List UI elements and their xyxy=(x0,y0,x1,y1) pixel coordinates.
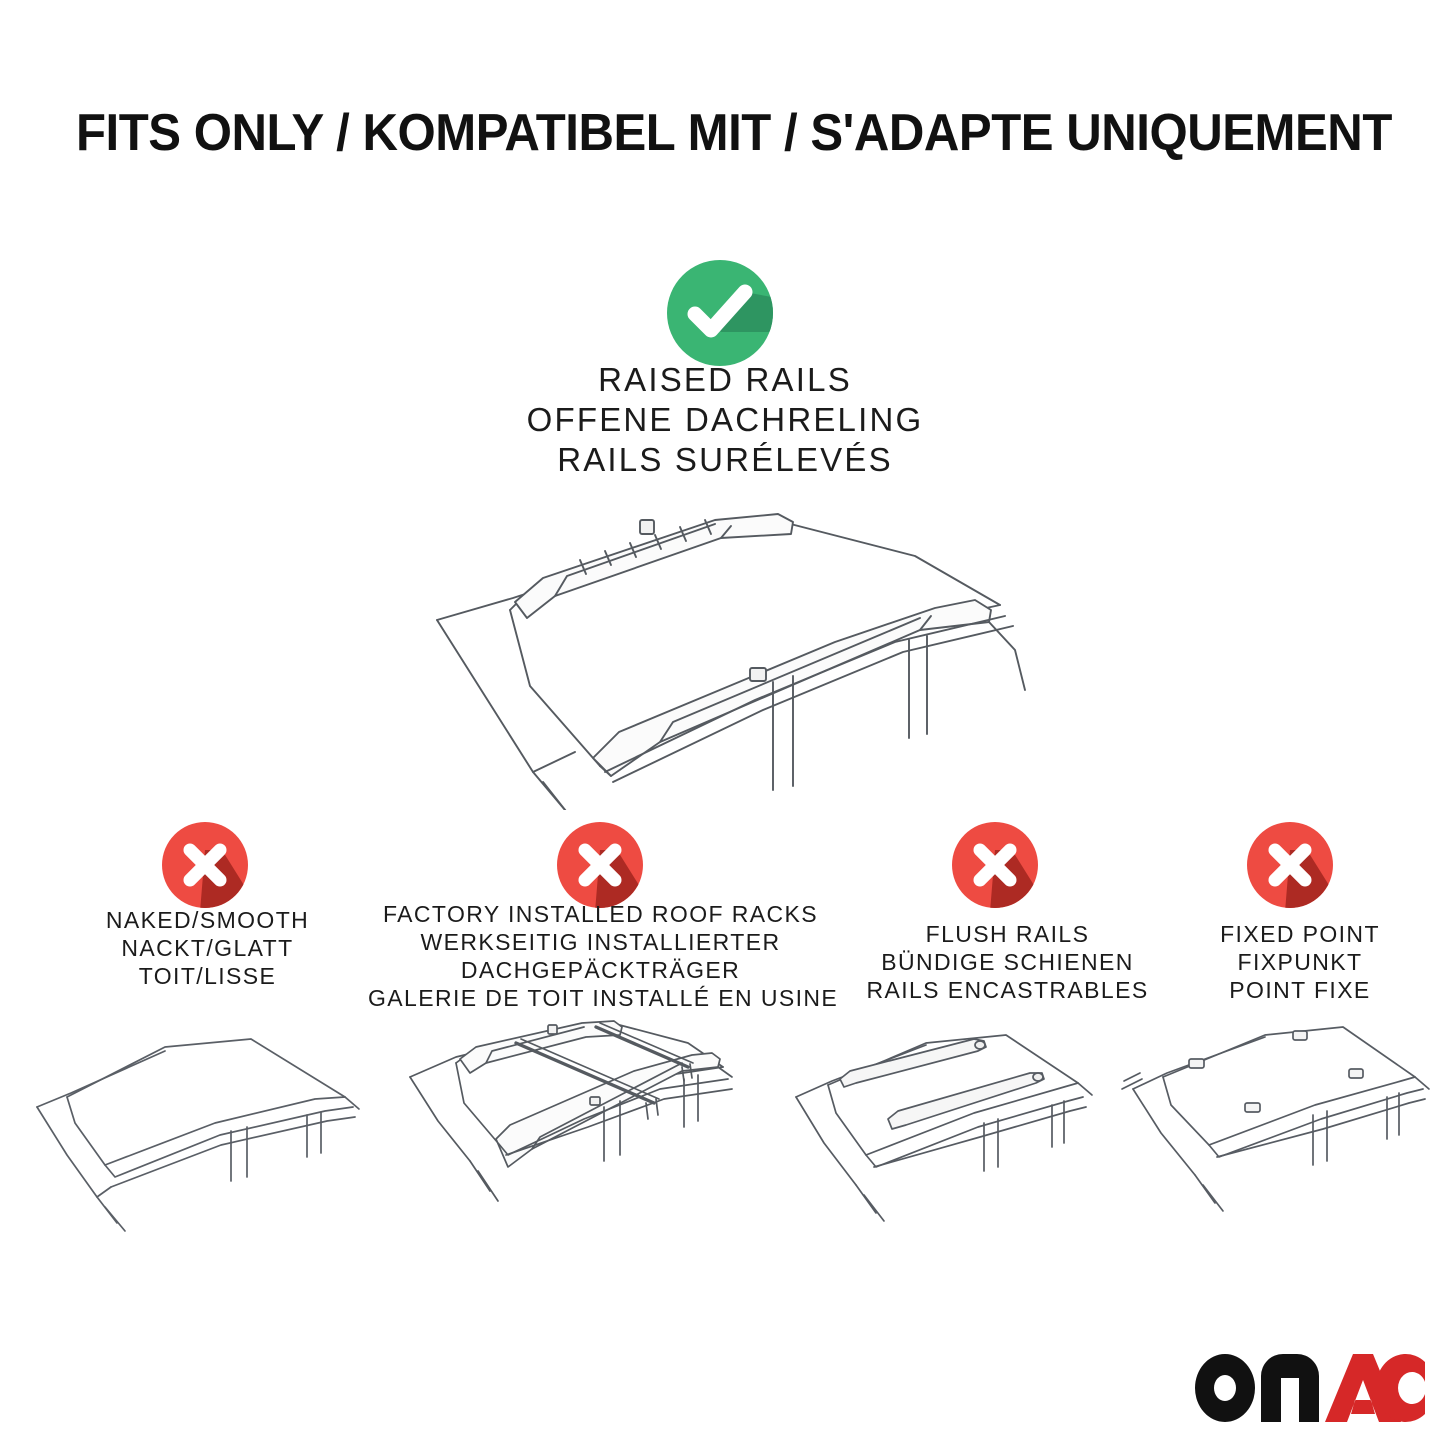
compatible-label-de: OFFENE DACHRELING xyxy=(415,400,1035,440)
compatible-label-en: RAISED RAILS xyxy=(415,360,1035,400)
check-circle-icon xyxy=(665,258,775,368)
compatible-label-fr: RAILS SURÉLEVÉS xyxy=(415,440,1035,480)
label-line-fr: GALERIE DE TOIT INSTALLÉ EN USINE xyxy=(368,984,833,1012)
x-circle-icon xyxy=(1245,820,1335,910)
roof-illustration-flush-rails xyxy=(778,1015,1148,1255)
roof-illustration-fixed-point xyxy=(1125,1015,1445,1255)
label-line-fr: RAILS ENCASTRABLES xyxy=(835,976,1180,1004)
incompatible-label-fixed-point: FIXED POINT FIXPUNKT POINT FIXE xyxy=(1160,920,1440,1004)
x-circle-icon xyxy=(950,820,1040,910)
incompatible-label-naked-smooth: NAKED/SMOOTH NACKT/GLATT TOIT/LISSE xyxy=(35,906,380,990)
x-circle-icon xyxy=(160,820,250,910)
label-line-de: FIXPUNKT xyxy=(1160,948,1440,976)
label-line-en: FACTORY INSTALLED ROOF RACKS xyxy=(368,900,833,928)
label-line-de: NACKT/GLATT xyxy=(35,934,380,962)
label-line-fr: TOIT/LISSE xyxy=(35,962,380,990)
label-line-de-2: DACHGEPÄCKTRÄGER xyxy=(368,956,833,984)
infographic-page: FITS ONLY / KOMPATIBEL MIT / S'ADAPTE UN… xyxy=(0,0,1445,1445)
incompatible-label-flush-rails: FLUSH RAILS BÜNDIGE SCHIENEN RAILS ENCAS… xyxy=(835,920,1180,1004)
roof-illustration-factory-roof-racks xyxy=(398,1015,768,1255)
omac-logo xyxy=(1193,1352,1425,1424)
label-line-fr: POINT FIXE xyxy=(1160,976,1440,1004)
x-circle-icon xyxy=(555,820,645,910)
label-line-de-1: WERKSEITIG INSTALLIERTER xyxy=(368,928,833,956)
label-line-en: FIXED POINT xyxy=(1160,920,1440,948)
compatible-label: RAISED RAILS OFFENE DACHRELING RAILS SUR… xyxy=(415,360,1035,480)
label-line-de: BÜNDIGE SCHIENEN xyxy=(835,948,1180,976)
page-title: FITS ONLY / KOMPATIBEL MIT / S'ADAPTE UN… xyxy=(76,105,1305,161)
label-line-en: NAKED/SMOOTH xyxy=(35,906,380,934)
roof-illustration-naked-smooth xyxy=(15,1015,385,1255)
roof-illustration-raised-rails xyxy=(415,490,1055,810)
label-line-en: FLUSH RAILS xyxy=(835,920,1180,948)
incompatible-label-factory-roof-racks: FACTORY INSTALLED ROOF RACKS WERKSEITIG … xyxy=(368,900,833,1012)
